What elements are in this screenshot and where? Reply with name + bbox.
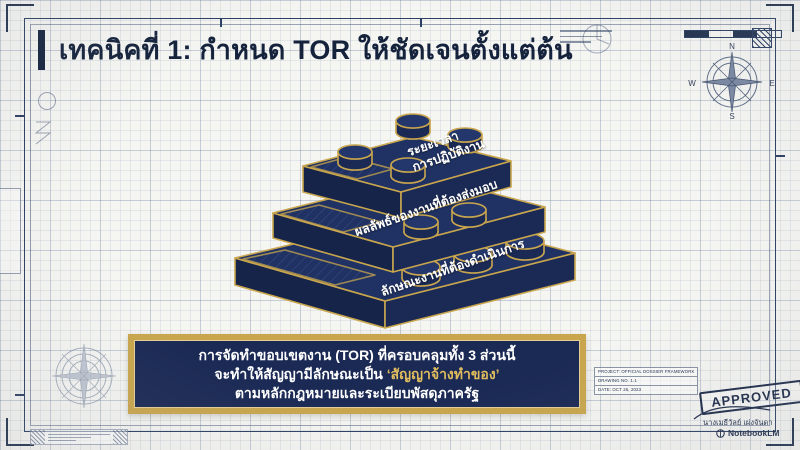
brand-text: NotebookLM bbox=[728, 428, 779, 438]
lego-stack-illustration bbox=[225, 80, 585, 330]
ruler-tick-left-1 bbox=[15, 115, 24, 117]
ruler-tick-top-2 bbox=[420, 18, 422, 27]
caption-box: การจัดทำขอบเขตงาน (TOR) ที่ครอบคลุมทั้ง … bbox=[128, 334, 586, 414]
caption-line-2-text: จะทำให้สัญญามีลักษณะเป็น bbox=[214, 366, 386, 382]
caption-highlight-phrase: ‘สัญญาจ้างทำของ’ bbox=[387, 366, 500, 382]
drawing-title-block: PROJECT: OFFICIAL DOSSIER FRAMEWORK DRAW… bbox=[594, 367, 698, 395]
ruler-tick-left-2 bbox=[15, 394, 24, 396]
titleblock-date: DATE: OCT 26, 2023 bbox=[594, 385, 698, 395]
caption-line-2: จะทำให้สัญญามีลักษณะเป็น ‘สัญญาจ้างทำของ… bbox=[214, 365, 499, 384]
compass-rose-bottom-left bbox=[48, 340, 120, 417]
mini-title-block bbox=[30, 429, 128, 445]
ruler-tick-top-1 bbox=[220, 18, 222, 27]
compass-west-label: W bbox=[688, 79, 696, 88]
notebooklm-logo-icon bbox=[716, 429, 725, 438]
mini-hatch-right bbox=[113, 430, 127, 444]
compass-south-label: S bbox=[729, 112, 734, 120]
page-title: เทคนิคที่ 1: กำหนด TOR ให้ชัดเจนตั้งแต่ต… bbox=[38, 30, 573, 70]
brand-credit: NotebookLM bbox=[716, 428, 779, 438]
titleblock-project: PROJECT: OFFICIAL DOSSIER FRAMEWORK bbox=[594, 367, 698, 376]
title-text: เทคนิคที่ 1: กำหนด TOR ให้ชัดเจนตั้งแต่ต… bbox=[59, 30, 573, 70]
titleblock-drawing-no: DRAWING NO. 1.1 bbox=[594, 376, 698, 385]
circle-marker-icon bbox=[38, 92, 56, 110]
surveyor-glyph-icon bbox=[32, 120, 54, 146]
compass-north-label: N bbox=[729, 42, 735, 51]
gauge-circle-icon bbox=[580, 22, 614, 56]
title-accent-bar bbox=[38, 30, 45, 70]
caption-line-3: ตามหลักกฎหมายและระเบียบพัสดุภาครัฐ bbox=[235, 384, 479, 403]
caption-line-1: การจัดทำขอบเขตงาน (TOR) ที่ครอบคลุมทั้ง … bbox=[199, 346, 516, 365]
compass-rose-top-right: N E S W bbox=[686, 40, 778, 125]
mini-hatch-left bbox=[31, 430, 45, 444]
caption-box-inner: การจัดทำขอบเขตงาน (TOR) ที่ครอบคลุมทั้ง … bbox=[134, 340, 580, 408]
compass-east-label: E bbox=[769, 79, 774, 88]
corner-mark-top-left bbox=[6, 4, 34, 32]
side-note-box bbox=[0, 188, 21, 274]
ruler-tick-right-1 bbox=[776, 155, 785, 157]
mini-text-lines bbox=[45, 430, 113, 444]
slide-canvas: N E S W เทคนิคที่ 1: กำหน bbox=[0, 0, 800, 450]
